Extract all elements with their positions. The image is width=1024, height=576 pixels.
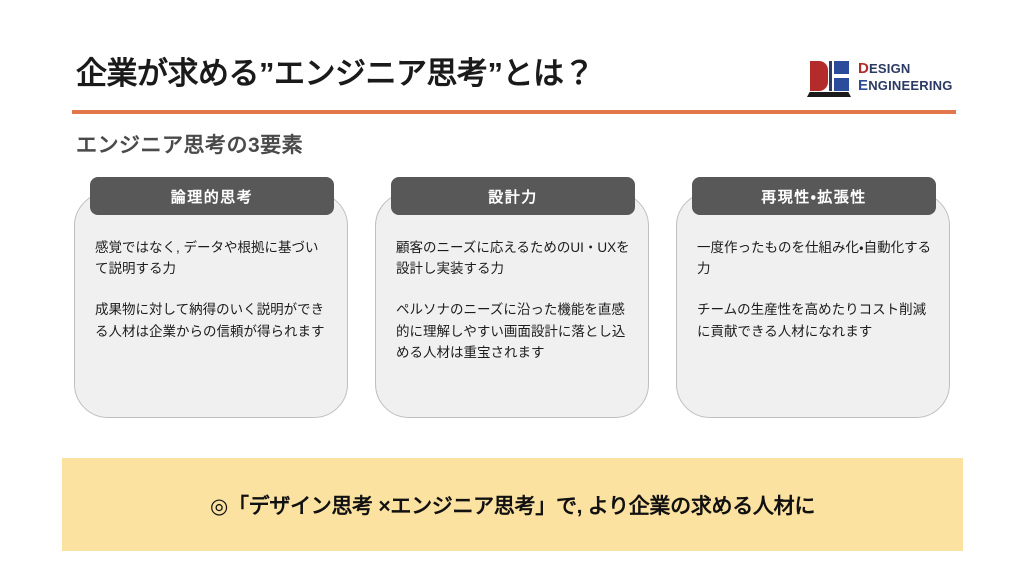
brand-logo-rest-engineering: NGINEERING	[868, 78, 952, 93]
element-card-body-3: 一度作ったものを仕組み化・自動化する力 チームの生産性を高めたりコスト削減に貢献…	[697, 237, 933, 342]
brand-logo-text: DESIGN ENGINEERING	[858, 61, 953, 95]
element-card-body-1: 感覚ではなく, データや根拠に基づいて説明する力 成果物に対して納得のいく説明が…	[95, 237, 331, 342]
page-title: 企業が求める”エンジニア思考”とは？	[76, 48, 594, 93]
brand-logo-line-engineering: ENGINEERING	[858, 78, 953, 95]
element-card-design-ability: 設計力 顧客のニーズに応えるためのUI・UXを設計し実装する力 ペルソナのニーズ…	[375, 192, 649, 418]
brand-logo: DESIGN ENGINEERING	[806, 54, 958, 102]
element-card-paragraph: 顧客のニーズに応えるためのUI・UXを設計し実装する力	[396, 237, 632, 280]
conclusion-banner: ◎「デザイン思考 ×エンジニア思考」で, より企業の求める人材に	[62, 458, 963, 551]
brand-logo-rest-design: ESIGN	[869, 61, 910, 76]
three-elements-card-group: 論理的思考 感覚ではなく, データや根拠に基づいて説明する力 成果物に対して納得…	[74, 192, 950, 418]
conclusion-banner-text: ◎「デザイン思考 ×エンジニア思考」で, より企業の求める人材に	[210, 490, 815, 520]
element-card-header-1: 論理的思考	[90, 177, 334, 215]
brand-logo-initial-d: D	[858, 60, 869, 77]
element-card-paragraph: 成果物に対して納得のいく説明ができる人材は企業からの信頼が得られます	[95, 299, 331, 342]
logo-e-upper-block	[834, 61, 849, 74]
element-card-paragraph: チームの生産性を高めたりコスト削減に貢献できる人材になれます	[697, 299, 933, 342]
element-card-paragraph: 一度作ったものを仕組み化・自動化する力	[697, 237, 933, 280]
logo-divider-bar	[829, 61, 832, 91]
element-card-reproducibility-extensibility: 再現性・拡張性 一度作ったものを仕組み化・自動化する力 チームの生産性を高めたり…	[676, 192, 950, 418]
brand-logo-initial-e: E	[858, 77, 868, 94]
logo-e-lower-block	[834, 78, 849, 91]
element-card-logical-thinking: 論理的思考 感覚ではなく, データや根拠に基づいて説明する力 成果物に対して納得…	[74, 192, 348, 418]
section-heading: エンジニア思考の3要素	[76, 129, 303, 159]
brand-logo-line-design: DESIGN	[858, 61, 953, 78]
element-card-header-label-2: 設計力	[488, 186, 538, 207]
element-card-paragraph: 感覚ではなく, データや根拠に基づいて説明する力	[95, 237, 331, 280]
design-engineering-logo-mark-icon	[806, 57, 852, 99]
element-card-header-2: 設計力	[391, 177, 635, 215]
element-card-header-3: 再現性・拡張性	[692, 177, 936, 215]
element-card-header-label-1: 論理的思考	[171, 186, 254, 207]
element-card-header-label-3: 再現性・拡張性	[761, 186, 867, 207]
logo-base-shape	[807, 92, 851, 97]
title-divider-rule	[72, 110, 956, 114]
logo-d-shape	[810, 61, 828, 91]
slide-canvas: 企業が求める”エンジニア思考”とは？ DESIGN ENGINEERING エン…	[0, 0, 1024, 576]
element-card-paragraph: ペルソナのニーズに沿った機能を直感的に理解しやすい画面設計に落とし込める人材は重…	[396, 299, 632, 363]
element-card-body-2: 顧客のニーズに応えるためのUI・UXを設計し実装する力 ペルソナのニーズに沿った…	[396, 237, 632, 363]
